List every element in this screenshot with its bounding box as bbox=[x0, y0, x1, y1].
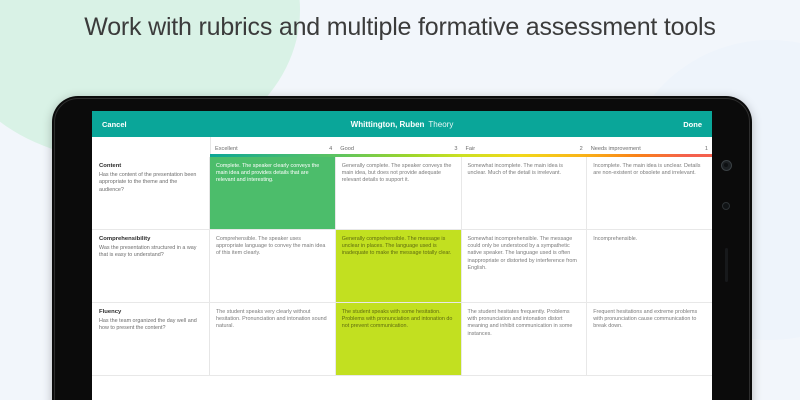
rubric-cell[interactable]: Comprehensible. The speaker uses appropr… bbox=[210, 230, 336, 302]
scale-score: 1 bbox=[705, 146, 708, 152]
scale-score: 3 bbox=[454, 146, 457, 152]
rubric-cell[interactable]: Frequent hesitations and extreme problem… bbox=[587, 303, 712, 375]
speaker-slot-icon bbox=[725, 248, 728, 282]
cancel-button[interactable]: Cancel bbox=[102, 120, 127, 129]
rubric-cell[interactable]: Incomplete. The main idea is unclear. De… bbox=[587, 157, 712, 229]
criterion-title: Content bbox=[99, 163, 202, 169]
scale-column-header: Needs improvement1 bbox=[587, 137, 712, 154]
rubric-cell[interactable]: Incomprehensible. bbox=[587, 230, 712, 302]
rubric-cells: The student speaks very clearly without … bbox=[210, 303, 712, 375]
rubric-table: ContentHas the content of the presentati… bbox=[92, 157, 712, 376]
tablet-device-frame: Cancel Whittington, RubenTheory Done Exc… bbox=[52, 96, 752, 400]
criterion-title: Comprehensibility bbox=[99, 236, 202, 242]
student-name-label: Whittington, Ruben bbox=[351, 120, 425, 129]
criterion-title: Fluency bbox=[99, 309, 202, 315]
scale-label: Excellent bbox=[215, 146, 238, 152]
rubric-cell-selected[interactable]: The student speaks with some hesitation.… bbox=[336, 303, 462, 375]
subject-label: Theory bbox=[428, 120, 453, 129]
rubric-cell[interactable]: Somewhat incomprehensible. The message c… bbox=[462, 230, 588, 302]
criterion-cell: FluencyHas the team organized the day we… bbox=[92, 303, 210, 375]
camera-icon bbox=[721, 160, 732, 171]
scale-label: Needs improvement bbox=[591, 146, 641, 152]
rubric-cells: Complete. The speaker clearly conveys th… bbox=[210, 157, 712, 229]
scale-column-header: Fair2 bbox=[462, 137, 587, 154]
rubric-cell[interactable]: The student hesitates frequently. Proble… bbox=[462, 303, 588, 375]
top-bar-title: Whittington, RubenTheory bbox=[92, 120, 712, 129]
scale-column-header: Good3 bbox=[336, 137, 461, 154]
rubric-cells: Comprehensible. The speaker uses appropr… bbox=[210, 230, 712, 302]
criterion-question: Was the presentation structured in a way… bbox=[99, 245, 202, 260]
page-root: Work with rubrics and multiple formative… bbox=[0, 0, 800, 400]
criterion-cell: ContentHas the content of the presentati… bbox=[92, 157, 210, 229]
scale-columns: Excellent4Good3Fair2Needs improvement1 bbox=[211, 137, 712, 154]
rubric-row: ComprehensibilityWas the presentation st… bbox=[92, 230, 712, 303]
scale-score: 2 bbox=[580, 146, 583, 152]
rubric-cell-selected[interactable]: Generally comprehensible. The message is… bbox=[336, 230, 462, 302]
scale-column-header: Excellent4 bbox=[211, 137, 336, 154]
rubric-row: ContentHas the content of the presentati… bbox=[92, 157, 712, 230]
sensor-icon bbox=[722, 202, 730, 210]
app-top-bar: Cancel Whittington, RubenTheory Done bbox=[92, 111, 712, 137]
scale-header-spacer bbox=[92, 137, 211, 154]
rubric-cell[interactable]: Generally complete. The speaker conveys … bbox=[336, 157, 462, 229]
rubric-cell[interactable]: Somewhat incomplete. The main idea is un… bbox=[462, 157, 588, 229]
tablet-screen: Cancel Whittington, RubenTheory Done Exc… bbox=[92, 111, 712, 400]
page-title: Work with rubrics and multiple formative… bbox=[50, 12, 750, 43]
criterion-cell: ComprehensibilityWas the presentation st… bbox=[92, 230, 210, 302]
scale-label: Fair bbox=[466, 146, 476, 152]
scale-header-row: Excellent4Good3Fair2Needs improvement1 bbox=[92, 137, 712, 154]
criterion-question: Has the team organized the day well and … bbox=[99, 318, 202, 333]
scale-score: 4 bbox=[329, 146, 332, 152]
scale-label: Good bbox=[340, 146, 354, 152]
rubric-cell-selected[interactable]: Complete. The speaker clearly conveys th… bbox=[210, 157, 336, 229]
criterion-question: Has the content of the presentation been… bbox=[99, 172, 202, 194]
done-button[interactable]: Done bbox=[683, 120, 702, 129]
rubric-cell[interactable]: The student speaks very clearly without … bbox=[210, 303, 336, 375]
rubric-row: FluencyHas the team organized the day we… bbox=[92, 303, 712, 376]
